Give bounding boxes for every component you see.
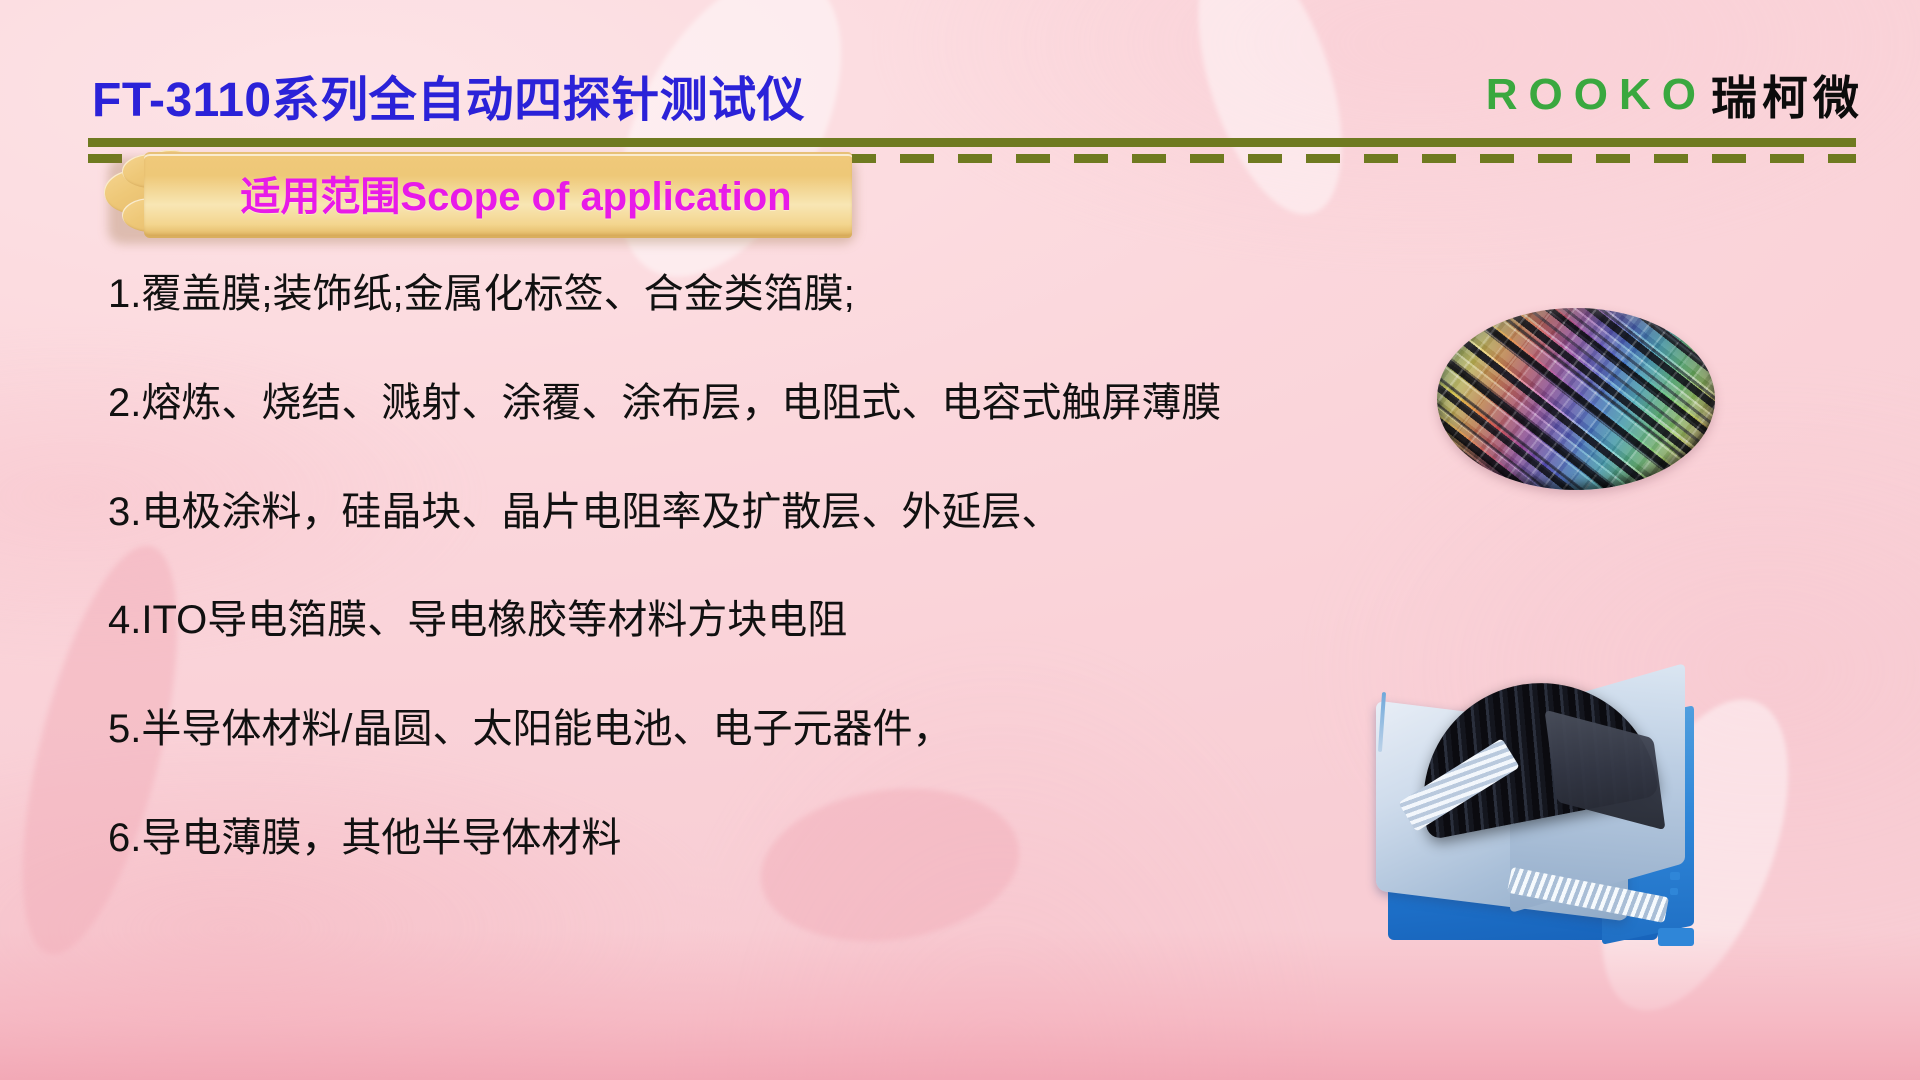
- section-banner: 适用范围Scope of application: [100, 148, 860, 252]
- silicon-wafer-image: [1437, 308, 1715, 490]
- logo-text-en: ROOKO: [1486, 70, 1707, 120]
- list-item: 1.覆盖膜;装饰纸;金属化标签、合金类箔膜;: [108, 272, 1348, 317]
- wafer-rim: [1437, 308, 1715, 490]
- background-bottom-gradient: [0, 930, 1920, 1080]
- list-item: 4.ITO导电箔膜、导电橡胶等材料方块电阻: [108, 598, 1348, 643]
- banner-shape: 适用范围Scope of application: [100, 148, 852, 238]
- list-item: 6.导电薄膜，其他半导体材料: [108, 816, 1348, 861]
- banner-label: 适用范围Scope of application: [240, 164, 791, 222]
- slide-header: FT-3110系列全自动四探针测试仪 ROOKO 瑞柯微: [0, 28, 1920, 138]
- list-item: 3.电极涂料，硅晶块、晶片电阻率及扩散层、外延层、: [108, 490, 1348, 535]
- page-title: FT-3110系列全自动四探针测试仪: [92, 60, 805, 130]
- list-item: 5.半导体材料/晶圆、太阳能电池、电子元器件，: [108, 707, 1348, 752]
- logo-text-cn: 瑞柯微: [1711, 62, 1864, 128]
- slide-canvas: FT-3110系列全自动四探针测试仪 ROOKO 瑞柯微 适用范围Scope o…: [0, 0, 1920, 1080]
- scope-list: 1.覆盖膜;装饰纸;金属化标签、合金类箔膜; 2.熔炼、烧结、溅射、涂覆、涂布层…: [108, 272, 1348, 925]
- wafer-die-pattern: [1437, 308, 1715, 490]
- brand-logo: ROOKO 瑞柯微: [1486, 62, 1864, 128]
- cassette-speck: [1670, 888, 1678, 895]
- list-item: 2.熔炼、烧结、溅射、涂覆、涂布层，电阻式、电容式触屏薄膜: [108, 381, 1348, 426]
- cassette-speck: [1658, 928, 1694, 946]
- cassette-speck: [1670, 872, 1680, 880]
- wafer-cassette-image: [1370, 660, 1710, 945]
- header-rule-solid: [88, 138, 1856, 147]
- banner-text-wrap: 适用范围Scope of application: [100, 148, 852, 238]
